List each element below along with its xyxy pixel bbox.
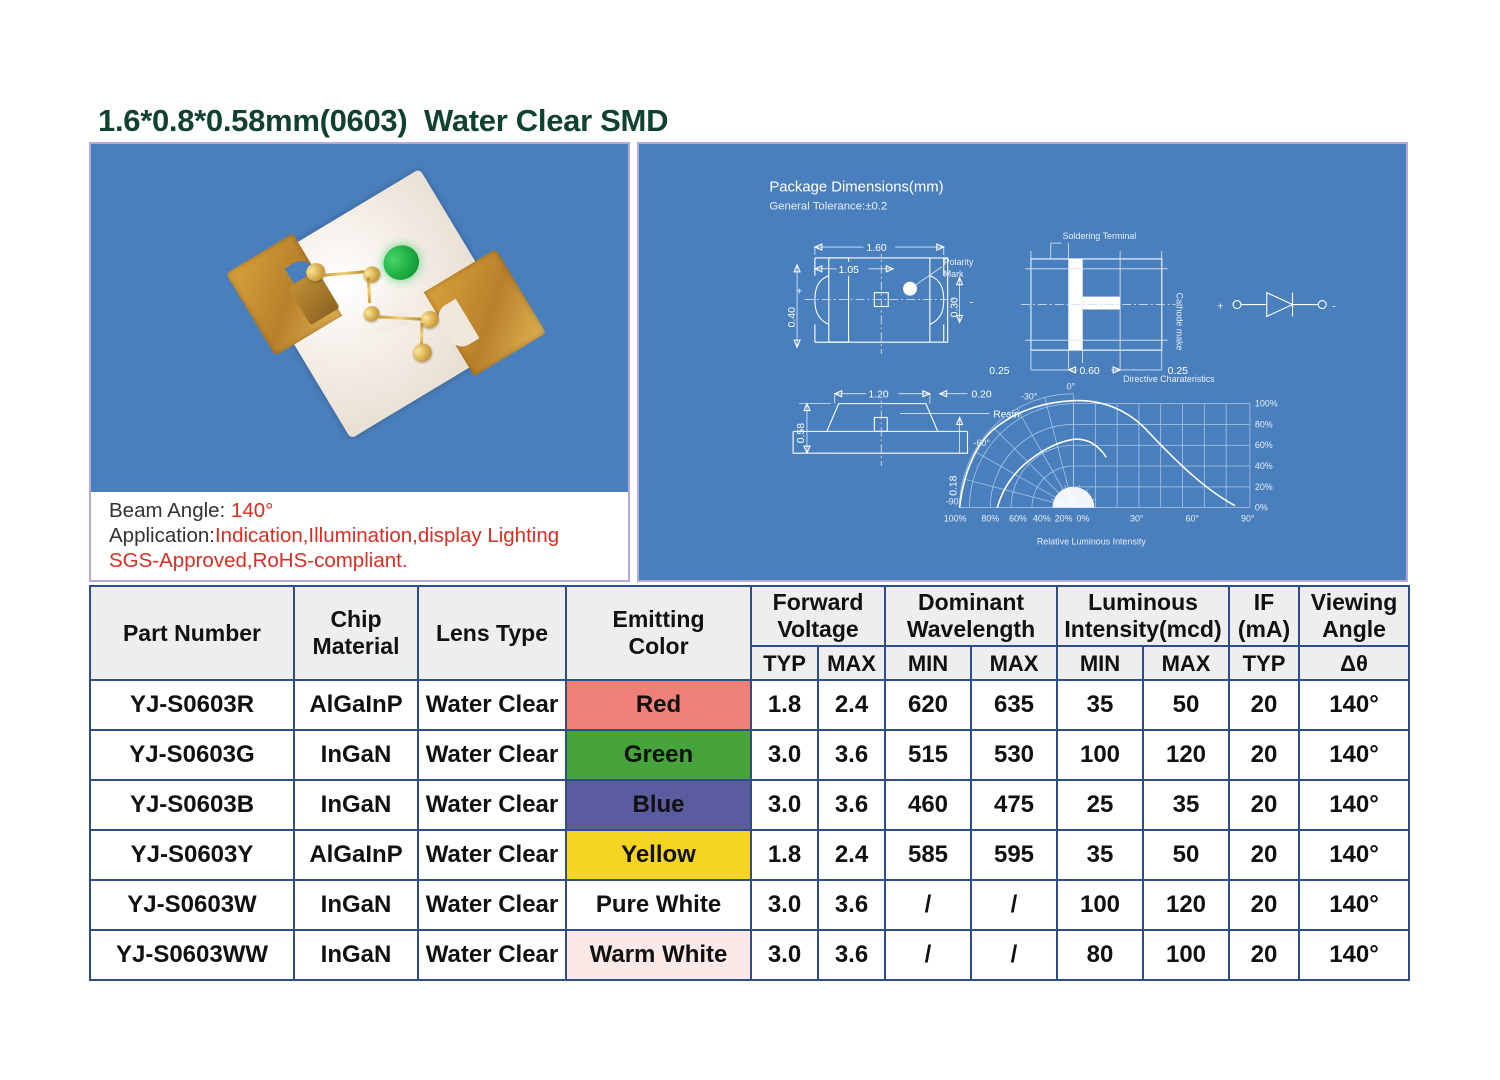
dim-1-05: 1.05 — [839, 265, 859, 276]
product-photo — [91, 144, 628, 492]
photo-caption: Beam Angle: 140° Application:Indication,… — [91, 492, 628, 580]
td-lum-max: 120 — [1143, 880, 1229, 930]
td-if-typ: 20 — [1229, 730, 1299, 780]
th-viewing-angle-l1: Viewing — [1300, 589, 1408, 616]
th-if-l1: IF — [1230, 589, 1298, 616]
td-if-typ: 20 — [1229, 930, 1299, 980]
td-part-number: YJ-S0603Y — [90, 830, 294, 880]
polar-bottom-100: 100% — [944, 514, 967, 524]
polar-angle-neg30: -30° — [1021, 392, 1038, 402]
td-chip-material: InGaN — [294, 730, 418, 780]
table-row: YJ-S0603RAlGaInPWater ClearRed1.82.46206… — [90, 680, 1409, 730]
td-viewing-angle: 140° — [1299, 780, 1409, 830]
th-luminous-intensity-l2: Intensity(mcd) — [1058, 616, 1228, 643]
td-if-typ: 20 — [1229, 680, 1299, 730]
td-part-number: YJ-S0603G — [90, 730, 294, 780]
polar-xlabel: Relative Luminous Intensity — [1037, 536, 1146, 546]
polar-intensity-80: 80% — [1255, 419, 1273, 429]
th-luminous-intensity-l1: Luminous — [1058, 589, 1228, 616]
diode-plus-sign: + — [1217, 301, 1223, 312]
th-forward-voltage-l1: Forward — [752, 589, 884, 616]
polar-intensity-20: 20% — [1255, 482, 1273, 492]
dim-1-60: 1.60 — [866, 243, 886, 254]
td-vf-typ: 1.8 — [751, 680, 818, 730]
package-drawing-svg: Package Dimensions(mm) General Tolerance… — [639, 144, 1406, 580]
th-lum-min: MIN — [1057, 646, 1143, 680]
td-if-typ: 20 — [1229, 880, 1299, 930]
td-wl-min: 585 — [885, 830, 971, 880]
td-vf-max: 3.6 — [818, 930, 885, 980]
td-vf-typ: 3.0 — [751, 730, 818, 780]
td-vf-max: 2.4 — [818, 830, 885, 880]
table-header-row-1: Part Number Chip Material Lens Type Emit… — [90, 586, 1409, 646]
td-emitting-color: Yellow — [566, 830, 751, 880]
polar-angle-90: 90° — [1241, 514, 1255, 524]
td-viewing-angle: 140° — [1299, 680, 1409, 730]
td-emitting-color: Blue — [566, 780, 751, 830]
cathode-mark-label: Cathode make — [1175, 293, 1185, 351]
application-line: Application:Indication,Illumination,disp… — [109, 523, 628, 548]
th-luminous-intensity: Luminous Intensity(mcd) — [1057, 586, 1229, 646]
th-part-number: Part Number — [90, 586, 294, 680]
dim-0-25-left: 0.25 — [989, 366, 1009, 377]
polar-intensity-40: 40% — [1255, 461, 1273, 471]
td-wl-min: / — [885, 930, 971, 980]
th-dominant-wavelength-l2: Wavelength — [886, 616, 1056, 643]
th-forward-voltage-l2: Voltage — [752, 616, 884, 643]
th-emitting-color: Emitting Color — [566, 586, 751, 680]
th-dominant-wavelength: Dominant Wavelength — [885, 586, 1057, 646]
directive-characteristics-chart: Directive Charateristics — [944, 374, 1278, 547]
polar-angle-30: 30° — [1130, 514, 1144, 524]
td-lens-type: Water Clear — [418, 730, 566, 780]
drawing-tolerance: General Tolerance:±0.2 — [769, 200, 887, 212]
td-wl-max: 530 — [971, 730, 1057, 780]
anode-plus-sign: + — [796, 287, 802, 298]
td-lum-min: 35 — [1057, 680, 1143, 730]
th-chip-material-l2: Material — [295, 633, 417, 660]
td-chip-material: AlGaInP — [294, 830, 418, 880]
td-viewing-angle: 140° — [1299, 730, 1409, 780]
table-row: YJ-S0603BInGaNWater ClearBlue3.03.646047… — [90, 780, 1409, 830]
td-part-number: YJ-S0603B — [90, 780, 294, 830]
dim-0-58: 0.58 — [796, 423, 807, 443]
th-angle-symbol: Δθ — [1299, 646, 1409, 680]
dim-0-20: 0.20 — [971, 390, 991, 401]
th-if-l2: (mA) — [1230, 616, 1298, 643]
top-view-drawing: Polarity Mark 1.60 1.05 — [787, 240, 974, 354]
polar-angle-0: 0° — [1067, 382, 1076, 392]
th-chip-material-l1: Chip — [295, 606, 417, 633]
td-lum-max: 120 — [1143, 730, 1229, 780]
polarity-mark-line1: Polarity — [944, 257, 974, 267]
package-drawing-panel: Package Dimensions(mm) General Tolerance… — [637, 142, 1408, 582]
th-vf-max: MAX — [818, 646, 885, 680]
table-row: YJ-S0603WInGaNWater ClearPure White3.03.… — [90, 880, 1409, 930]
dim-0-30: 0.30 — [950, 297, 961, 317]
td-chip-material: InGaN — [294, 780, 418, 830]
th-forward-voltage: Forward Voltage — [751, 586, 885, 646]
td-emitting-color: Pure White — [566, 880, 751, 930]
td-chip-material: InGaN — [294, 930, 418, 980]
td-viewing-angle: 140° — [1299, 930, 1409, 980]
dim-0-40: 0.40 — [787, 307, 798, 327]
application-value: Indication,Illumination,display Lighting — [215, 524, 559, 547]
td-vf-max: 3.6 — [818, 880, 885, 930]
product-photo-panel: Beam Angle: 140° Application:Indication,… — [89, 142, 630, 582]
td-lens-type: Water Clear — [418, 880, 566, 930]
td-wl-max: 595 — [971, 830, 1057, 880]
td-viewing-angle: 140° — [1299, 880, 1409, 930]
th-lum-max: MAX — [1143, 646, 1229, 680]
td-lens-type: Water Clear — [418, 680, 566, 730]
td-lum-min: 25 — [1057, 780, 1143, 830]
td-vf-typ: 3.0 — [751, 780, 818, 830]
th-viewing-angle: Viewing Angle — [1299, 586, 1409, 646]
soldering-terminal-label: Soldering Terminal — [1063, 231, 1137, 241]
td-part-number: YJ-S0603WW — [90, 930, 294, 980]
td-part-number: YJ-S0603W — [90, 880, 294, 930]
cathode-minus-sign: - — [969, 298, 972, 309]
th-wl-max: MAX — [971, 646, 1057, 680]
th-emitting-color-l2: Color — [567, 633, 750, 660]
table-row: YJ-S0603GInGaNWater ClearGreen3.03.65155… — [90, 730, 1409, 780]
td-wl-max: 475 — [971, 780, 1057, 830]
th-viewing-angle-l2: Angle — [1300, 616, 1408, 643]
td-vf-max: 3.6 — [818, 780, 885, 830]
td-wl-max: / — [971, 930, 1057, 980]
td-lens-type: Water Clear — [418, 830, 566, 880]
td-wl-min: 460 — [885, 780, 971, 830]
td-vf-typ: 1.8 — [751, 830, 818, 880]
polar-bottom-40: 40% — [1033, 514, 1051, 524]
beam-angle-line: Beam Angle: 140° — [109, 498, 628, 523]
page-title: 1.6*0.8*0.58mm(0603) Water Clear SMD — [98, 103, 668, 139]
td-lum-min: 100 — [1057, 880, 1143, 930]
beam-angle-value: 140° — [231, 499, 273, 522]
th-wl-min: MIN — [885, 646, 971, 680]
td-wl-max: / — [971, 880, 1057, 930]
dim-0-60: 0.60 — [1079, 366, 1099, 377]
td-lens-type: Water Clear — [418, 930, 566, 980]
polar-intensity-100: 100% — [1255, 399, 1278, 409]
polar-intensity-60: 60% — [1255, 440, 1273, 450]
th-if-typ: TYP — [1229, 646, 1299, 680]
beam-angle-label: Beam Angle: — [109, 499, 231, 522]
application-label: Application: — [109, 524, 215, 547]
compliance-line: SGS-Approved,RoHS-compliant. — [109, 548, 628, 573]
specification-table: Part Number Chip Material Lens Type Emit… — [89, 585, 1410, 981]
td-lum-max: 100 — [1143, 930, 1229, 980]
td-if-typ: 20 — [1229, 780, 1299, 830]
th-chip-material: Chip Material — [294, 586, 418, 680]
dim-0-18: 0.18 — [949, 475, 960, 495]
table-row: YJ-S0603YAlGaInPWater ClearYellow1.82.45… — [90, 830, 1409, 880]
th-dominant-wavelength-l1: Dominant — [886, 589, 1056, 616]
td-part-number: YJ-S0603R — [90, 680, 294, 730]
td-wl-max: 635 — [971, 680, 1057, 730]
td-lum-min: 80 — [1057, 930, 1143, 980]
td-chip-material: AlGaInP — [294, 680, 418, 730]
th-lens-type: Lens Type — [418, 586, 566, 680]
table-body: YJ-S0603RAlGaInPWater ClearRed1.82.46206… — [90, 680, 1409, 980]
td-vf-max: 2.4 — [818, 680, 885, 730]
polar-intensity-0: 0% — [1255, 503, 1268, 513]
diode-minus-sign: - — [1332, 301, 1335, 312]
drawing-heading: Package Dimensions(mm) — [769, 180, 943, 196]
dim-1-20: 1.20 — [868, 390, 888, 401]
td-lum-min: 35 — [1057, 830, 1143, 880]
polar-angle-neg90: -90° — [946, 497, 963, 507]
td-wl-min: 515 — [885, 730, 971, 780]
td-if-typ: 20 — [1229, 830, 1299, 880]
polarity-mark-line2: Mark — [944, 269, 964, 279]
td-emitting-color: Red — [566, 680, 751, 730]
th-if: IF (mA) — [1229, 586, 1299, 646]
polar-chart-title: Directive Charateristics — [1123, 374, 1215, 384]
th-emitting-color-l1: Emitting — [567, 606, 750, 633]
td-lens-type: Water Clear — [418, 780, 566, 830]
pad-view-drawing: Soldering Terminal Cathode make 0.60 0.2… — [989, 231, 1335, 377]
td-vf-typ: 3.0 — [751, 880, 818, 930]
td-chip-material: InGaN — [294, 880, 418, 930]
table-row: YJ-S0603WWInGaNWater ClearWarm White3.03… — [90, 930, 1409, 980]
polar-bottom-80: 80% — [981, 514, 999, 524]
td-emitting-color: Green — [566, 730, 751, 780]
polar-angle-neg60: -60° — [973, 438, 990, 448]
polar-bottom-60: 60% — [1009, 514, 1027, 524]
td-lum-max: 35 — [1143, 780, 1229, 830]
td-wl-min: 620 — [885, 680, 971, 730]
td-lum-min: 100 — [1057, 730, 1143, 780]
td-viewing-angle: 140° — [1299, 830, 1409, 880]
td-emitting-color: Warm White — [566, 930, 751, 980]
th-vf-typ: TYP — [751, 646, 818, 680]
td-lum-max: 50 — [1143, 830, 1229, 880]
polar-angle-60: 60° — [1186, 514, 1200, 524]
td-wl-min: / — [885, 880, 971, 930]
smd-led-illustration — [213, 144, 560, 471]
td-lum-max: 50 — [1143, 680, 1229, 730]
datasheet-page: 1.6*0.8*0.58mm(0603) Water Clear SMD — [0, 0, 1500, 1080]
td-vf-max: 3.6 — [818, 730, 885, 780]
td-vf-typ: 3.0 — [751, 930, 818, 980]
polar-bottom-0: 0% — [1077, 514, 1090, 524]
polar-bottom-20: 20% — [1055, 514, 1073, 524]
